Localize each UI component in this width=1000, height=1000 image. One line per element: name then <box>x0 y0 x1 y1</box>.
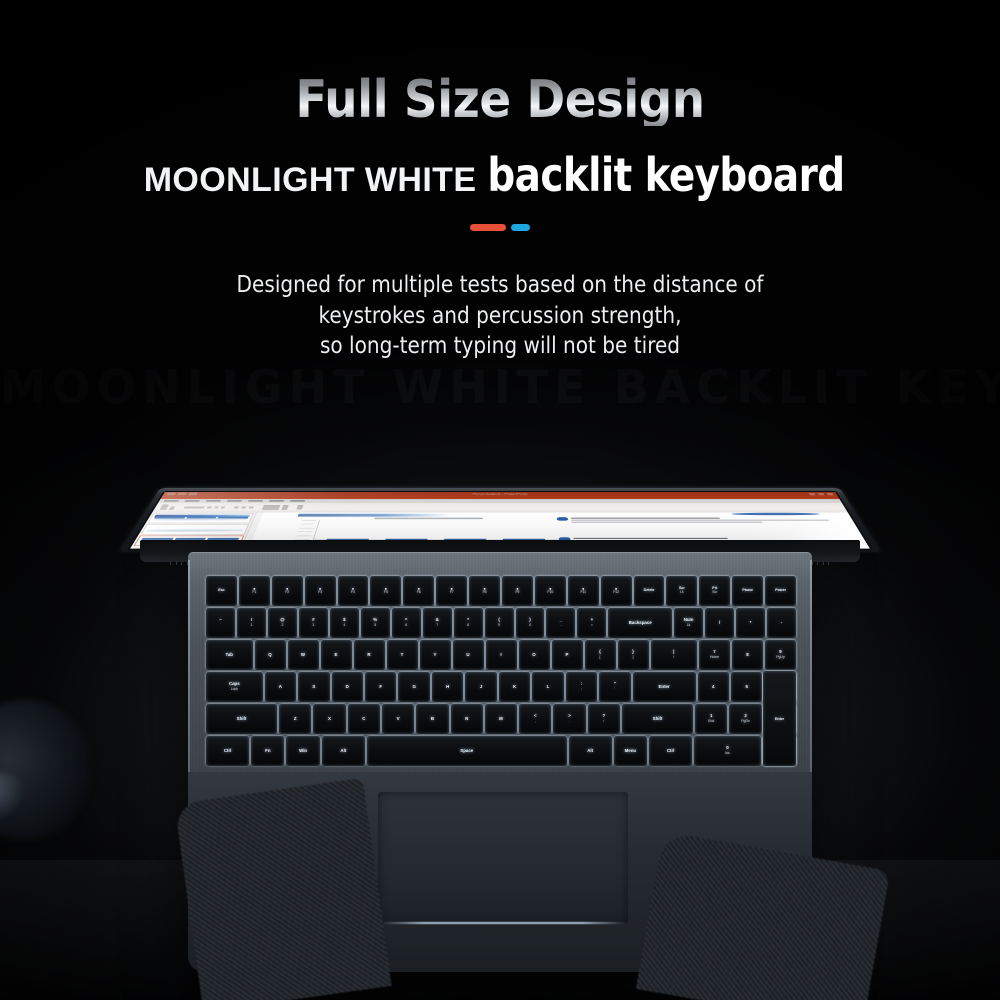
tab-view[interactable] <box>290 500 305 502</box>
decorative-ellipse <box>731 513 820 515</box>
key-2-pgdn[interactable]: 2PgDn <box>729 704 761 734</box>
font-size-box[interactable] <box>207 506 213 508</box>
key-[interactable]: += <box>577 608 606 638</box>
maximize-icon[interactable] <box>818 493 825 495</box>
key-k[interactable]: K <box>499 672 530 702</box>
key-[interactable]: _- <box>546 608 575 638</box>
key-7-home[interactable]: 7Home <box>699 640 730 670</box>
editing-group[interactable] <box>296 505 303 509</box>
subtitle: MOONLIGHT WHITE backlit keyboard <box>0 148 1000 202</box>
key-5[interactable]: 5 <box>731 672 762 702</box>
grille-dot <box>828 562 829 565</box>
align-left-icon[interactable] <box>234 506 240 508</box>
key-[interactable]: {[ <box>585 640 616 670</box>
body-line-2: keystrokes and percussion strength, <box>15 301 985 332</box>
key-p[interactable]: P <box>552 640 583 670</box>
key-enter[interactable]: Enter <box>633 672 696 702</box>
chart-title <box>374 518 483 519</box>
key-scr-lk[interactable]: ScrLk <box>666 576 697 606</box>
grille-dot <box>823 562 824 565</box>
key-[interactable]: - <box>767 608 796 638</box>
key-f4[interactable]: ●F4 <box>338 576 369 606</box>
tab-transitions[interactable] <box>248 500 263 502</box>
key-y[interactable]: Y <box>420 640 451 670</box>
keyboard-row-bottom: CtrlFnWinAltSpaceAltMenuCtrl0Ins.Del <box>206 736 796 766</box>
save-icon[interactable] <box>166 492 176 495</box>
key-numpad-enter[interactable]: Enter <box>763 671 796 766</box>
key-n[interactable]: N <box>451 704 483 734</box>
key-[interactable]: >. <box>553 704 585 734</box>
list-item <box>556 517 831 524</box>
paste-icon[interactable] <box>159 505 169 510</box>
bullets-icon[interactable] <box>249 506 254 508</box>
slide-heading <box>297 514 450 517</box>
key-f8[interactable]: ●F8 <box>469 576 500 606</box>
key-[interactable]: "' <box>599 672 630 702</box>
arrange-icon[interactable] <box>281 505 288 510</box>
key-menu[interactable]: Menu <box>614 736 647 766</box>
tab-file[interactable] <box>163 500 179 502</box>
key-i[interactable]: I <box>486 640 517 670</box>
key-3[interactable]: #3 <box>299 608 328 638</box>
subtitle-bold: backlit keyboard <box>488 148 845 202</box>
key-ctrl[interactable]: Ctrl <box>206 736 249 766</box>
slide-thumbnail[interactable] <box>141 524 249 534</box>
key-l[interactable]: L <box>532 672 563 702</box>
key-esc[interactable]: Esc <box>206 576 237 606</box>
body-line-3: so long-term typing will not be tired <box>15 331 985 362</box>
key-space[interactable]: Space <box>367 736 567 766</box>
key-z[interactable]: Z <box>279 704 311 734</box>
key-v[interactable]: V <box>382 704 414 734</box>
divider-bar-cyan <box>511 224 530 231</box>
key-f7[interactable]: ●F7 <box>436 576 467 606</box>
keyboard-row-qwerty: TabQWERTYUIOP{[}]|\7Home89PgUp <box>206 640 796 670</box>
key-backspace[interactable]: Backspace <box>608 608 672 638</box>
body-copy: Designed for multiple tests based on the… <box>0 270 1000 362</box>
key-f11[interactable]: ●F11 <box>568 576 599 606</box>
key-[interactable]: ~` <box>206 608 235 638</box>
subtitle-regular: MOONLIGHT WHITE <box>144 161 477 200</box>
key-ctrl[interactable]: Ctrl <box>649 736 692 766</box>
redo-icon[interactable] <box>188 492 198 495</box>
font-name-box[interactable] <box>184 506 205 508</box>
key-[interactable]: }] <box>618 640 649 670</box>
key-4[interactable]: $4 <box>330 608 359 638</box>
align-center-icon[interactable] <box>241 506 247 508</box>
undo-icon[interactable] <box>177 492 187 495</box>
key-t[interactable]: T <box>387 640 418 670</box>
grille-dot <box>817 562 818 565</box>
key-6[interactable]: ^6 <box>392 608 421 638</box>
key-pause[interactable]: Pause <box>732 576 763 606</box>
grille-dot <box>170 562 171 565</box>
window-controls <box>809 493 834 495</box>
key-q[interactable]: Q <box>255 640 286 670</box>
key-f12[interactable]: ●F12 <box>601 576 632 606</box>
keyboard-row-function: Esc●F1●F2●F3●F4●F5●F6●F7●F8●F9●F10●F11●F… <box>206 576 796 606</box>
grille-dot <box>176 562 177 565</box>
key-[interactable]: ?/ <box>588 704 620 734</box>
key-h[interactable]: H <box>432 672 463 702</box>
key-8[interactable]: 8 <box>732 640 763 670</box>
key-4[interactable]: 4 <box>698 672 729 702</box>
key-a[interactable]: A <box>265 672 296 702</box>
key-caps-lock[interactable]: CapsLock <box>206 672 263 702</box>
thumbnail-graphic <box>153 518 248 521</box>
key-2[interactable]: @2 <box>268 608 297 638</box>
find-icon[interactable] <box>296 505 303 509</box>
key-j[interactable]: J <box>465 672 496 702</box>
drawing-group[interactable] <box>262 505 289 510</box>
bullet-badge <box>556 517 568 520</box>
keyboard-row-shift: ShiftZXCVBNM<,>.?/Shift1End2PgDn3 <box>206 704 796 734</box>
key-num-lk[interactable]: NumLk <box>674 608 703 638</box>
key-u[interactable]: U <box>453 640 484 670</box>
key-prt-scr[interactable]: PrtScr <box>699 576 730 606</box>
key-delete[interactable]: Delete <box>634 576 665 606</box>
key-s[interactable]: S <box>298 672 329 702</box>
key-9-pgup[interactable]: 9PgUp <box>765 640 796 670</box>
keyboard-row-numbers: ~`!1@2#3$4%5^6&7*8(9)0_-+=BackspaceNumLk… <box>206 608 796 638</box>
shapes-gallery[interactable] <box>262 505 281 510</box>
key-alt[interactable]: Alt <box>322 736 365 766</box>
chart-bars <box>318 520 552 540</box>
app-title-bar: Presentation1 - PowerPoint <box>161 492 840 499</box>
chart-y-ticks <box>289 520 317 540</box>
key-[interactable]: * <box>736 608 765 638</box>
bold-icon[interactable] <box>214 506 219 508</box>
key-shift[interactable]: Shift <box>622 704 693 734</box>
key-1-end[interactable]: 1End <box>695 704 727 734</box>
key-fn[interactable]: Fn <box>251 736 284 766</box>
key-alt[interactable]: Alt <box>569 736 612 766</box>
key-[interactable]: <, <box>519 704 551 734</box>
grille-dot <box>181 562 182 565</box>
key-f1[interactable]: ●F1 <box>239 576 270 606</box>
product-banner: MOONLIGHT WHITE BACKLIT KEYBOARD MOONLIG… <box>0 0 1000 1000</box>
key-[interactable]: |\ <box>651 640 698 670</box>
key-1[interactable]: !1 <box>237 608 266 638</box>
key-e[interactable]: E <box>321 640 352 670</box>
cut-icon[interactable] <box>169 507 176 510</box>
key-d[interactable]: D <box>332 672 363 702</box>
key-w[interactable]: W <box>288 640 319 670</box>
left-sleeve <box>174 778 391 1000</box>
app-title-text: Presentation1 - PowerPoint <box>472 493 527 496</box>
key-m[interactable]: M <box>485 704 517 734</box>
key-[interactable]: :; <box>566 672 597 702</box>
key-0-ins[interactable]: 0Ins <box>694 736 761 766</box>
ribbon-toolbar[interactable] <box>152 503 847 512</box>
key-[interactable]: / <box>705 608 734 638</box>
close-icon[interactable] <box>827 493 834 495</box>
bullet-text <box>570 517 831 524</box>
tab-insert[interactable] <box>206 500 222 502</box>
key-o[interactable]: O <box>519 640 550 670</box>
quick-access-toolbar <box>166 492 197 495</box>
key-7[interactable]: &7 <box>423 608 452 638</box>
key-f[interactable]: F <box>365 672 396 702</box>
key-c[interactable]: C <box>348 704 380 734</box>
key-f5[interactable]: ●F5 <box>370 576 401 606</box>
clipboard-group[interactable] <box>159 505 176 510</box>
keyboard-row-home: CapsLockASDFGHJKL:;"'Enter456 <box>206 672 796 702</box>
italic-icon[interactable] <box>221 506 226 508</box>
tab-design[interactable] <box>227 500 243 502</box>
paragraph-group[interactable] <box>234 506 254 508</box>
key-b[interactable]: B <box>416 704 448 734</box>
key-9[interactable]: (9 <box>485 608 514 638</box>
key-f6[interactable]: ●F6 <box>403 576 434 606</box>
thumbnail-graphic <box>146 529 243 532</box>
key-win[interactable]: Win <box>286 736 319 766</box>
font-group[interactable] <box>184 506 226 508</box>
key-x[interactable]: X <box>313 704 345 734</box>
key-shift[interactable]: Shift <box>206 704 277 734</box>
backlit-keyboard[interactable]: Esc●F1●F2●F3●F4●F5●F6●F7●F8●F9●F10●F11●F… <box>206 576 796 766</box>
minimize-icon[interactable] <box>809 493 816 495</box>
page-title: Full Size Design <box>0 74 1000 126</box>
trackpad-highlight <box>378 922 628 924</box>
key-power[interactable]: Power <box>765 576 796 606</box>
body-line-1: Designed for multiple tests based on the… <box>15 270 985 301</box>
key-r[interactable]: R <box>354 640 385 670</box>
key-0[interactable]: )0 <box>516 608 545 638</box>
key-5[interactable]: %5 <box>361 608 390 638</box>
key-g[interactable]: G <box>398 672 429 702</box>
trackpad[interactable] <box>378 792 628 924</box>
tab-home[interactable] <box>184 500 200 502</box>
tab-animations[interactable] <box>269 500 284 502</box>
key-tab[interactable]: Tab <box>206 640 253 670</box>
key-8[interactable]: *8 <box>454 608 483 638</box>
divider <box>0 224 1000 231</box>
divider-bar-red <box>470 224 506 231</box>
key-f10[interactable]: ●F10 <box>535 576 566 606</box>
slide-thumbnail[interactable] <box>148 513 254 523</box>
key-f3[interactable]: ●F3 <box>305 576 336 606</box>
key-f2[interactable]: ●F2 <box>272 576 303 606</box>
key-f9[interactable]: ●F9 <box>502 576 533 606</box>
